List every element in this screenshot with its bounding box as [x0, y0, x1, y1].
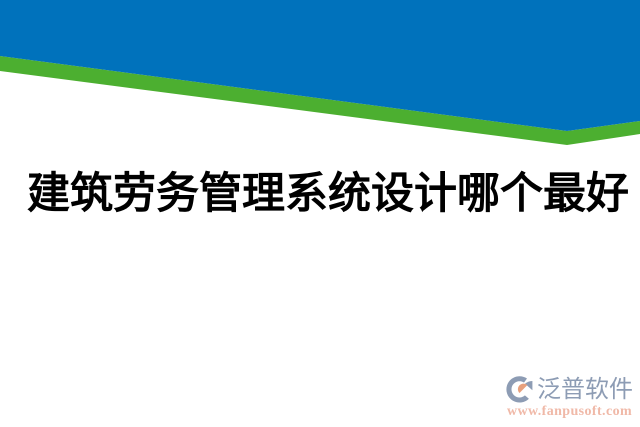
company-name: 泛普软件 [537, 375, 633, 403]
header-banner [0, 0, 640, 150]
watermark-logo: 泛普软件 www.fanpusoft.com [505, 374, 635, 422]
fanpu-swirl-logo-icon [505, 375, 535, 403]
header-banner-graphic [0, 0, 640, 150]
company-url: www.fanpusoft.com [507, 404, 635, 420]
logo-lockup: 泛普软件 [505, 374, 633, 404]
page-title: 建筑劳务管理系统设计哪个最好 [27, 168, 631, 220]
title-area: 建筑劳务管理系统设计哪个最好 [0, 168, 640, 230]
slide-canvas: 建筑劳务管理系统设计哪个最好 泛普软件 www.fanpusoft.com [0, 0, 640, 427]
